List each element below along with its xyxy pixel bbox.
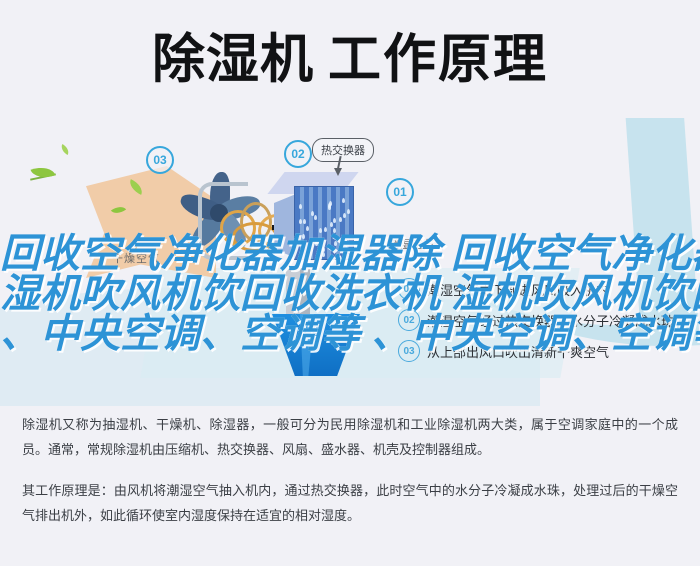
heat-exchanger-callout: 热交换器 (312, 138, 374, 162)
legend-text: 潮湿空气由下部进风口吸入机内 (427, 280, 609, 299)
condensation-droplet (314, 215, 317, 220)
dry-air-label: 干燥空气 (112, 250, 160, 266)
diagram-badge-01: 01 (386, 178, 414, 206)
diagram-illustration: 干燥空气 (0, 118, 700, 408)
water-tank-label: 水箱 (297, 324, 321, 340)
condensation-droplet (334, 241, 337, 246)
condensation-droplet (306, 226, 309, 231)
title-part-2: 工作原理 (328, 30, 548, 89)
page-title: 除湿机工作原理 (152, 33, 548, 86)
condensation-droplet (339, 217, 342, 222)
legend-list: 01 潮湿空气由下部进风口吸入机内 02 潮湿空气经过热交换器，水分子冷凝成水珠… (398, 278, 698, 371)
heat-exchanger-icon (272, 172, 356, 258)
diagram-badge-02: 02 (284, 140, 312, 168)
body-paragraph-1: 除湿机又称为抽湿机、干燥机、除湿器，一般可分为民用除湿机和工业除湿机两大类，属于… (22, 412, 678, 462)
condensation-droplet (302, 234, 305, 239)
condensation-droplet (299, 204, 302, 209)
legend-text: 潮湿空气经过热交换器，水分子冷凝成水珠 (427, 311, 674, 330)
legend-badge: 02 (398, 309, 420, 331)
legend-badge: 01 (398, 278, 420, 300)
condensation-droplet (322, 247, 325, 252)
condensation-droplet (342, 198, 345, 203)
condensation-droplet (303, 219, 306, 224)
leaf-icon (59, 144, 71, 155)
diagram-badge-03: 03 (146, 146, 174, 174)
condensation-droplet (343, 213, 346, 218)
condensation-droplet (330, 222, 333, 227)
condensation-droplet (319, 228, 322, 233)
moist-air-label: 潮湿空气 (388, 236, 436, 252)
condensation-droplet (333, 218, 336, 223)
condensation-droplet (339, 243, 342, 248)
condensation-droplet (324, 227, 327, 232)
infographic-page: 除湿机工作原理 干燥空气 (0, 0, 700, 566)
body-copy: 除湿机又称为抽湿机、干燥机、除湿器，一般可分为民用除湿机和工业除湿机两大类，属于… (0, 412, 700, 528)
condensate-duct-shadow (300, 268, 310, 318)
condensation-droplet (328, 203, 331, 208)
legend-item: 03 从上部出风口吹出清新干爽空气 (398, 340, 698, 362)
condensation-droplet (347, 209, 350, 214)
heat-exchanger-fins (294, 186, 354, 260)
legend-item: 02 潮湿空气经过热交换器，水分子冷凝成水珠 (398, 309, 698, 331)
heat-exchanger-side (274, 194, 296, 258)
title-part-1: 除湿机 (152, 30, 314, 89)
body-paragraph-2: 其工作原理是：由风机将潮湿空气抽入机内，通过热交换器，此时空气中的水分子冷凝成水… (22, 478, 678, 528)
condensation-droplet (299, 219, 302, 224)
condensation-droplet (333, 228, 336, 233)
legend-badge: 03 (398, 340, 420, 362)
legend-item: 01 潮湿空气由下部进风口吸入机内 (398, 278, 698, 300)
legend-text: 从上部出风口吹出清新干爽空气 (427, 342, 609, 361)
condensation-droplet (322, 252, 325, 257)
condensation-droplet (345, 246, 348, 251)
title-band: 除湿机工作原理 (0, 0, 700, 118)
callout-tail-arrow (334, 168, 342, 176)
condensation-droplet (315, 241, 318, 246)
condensation-droplet (299, 251, 302, 256)
